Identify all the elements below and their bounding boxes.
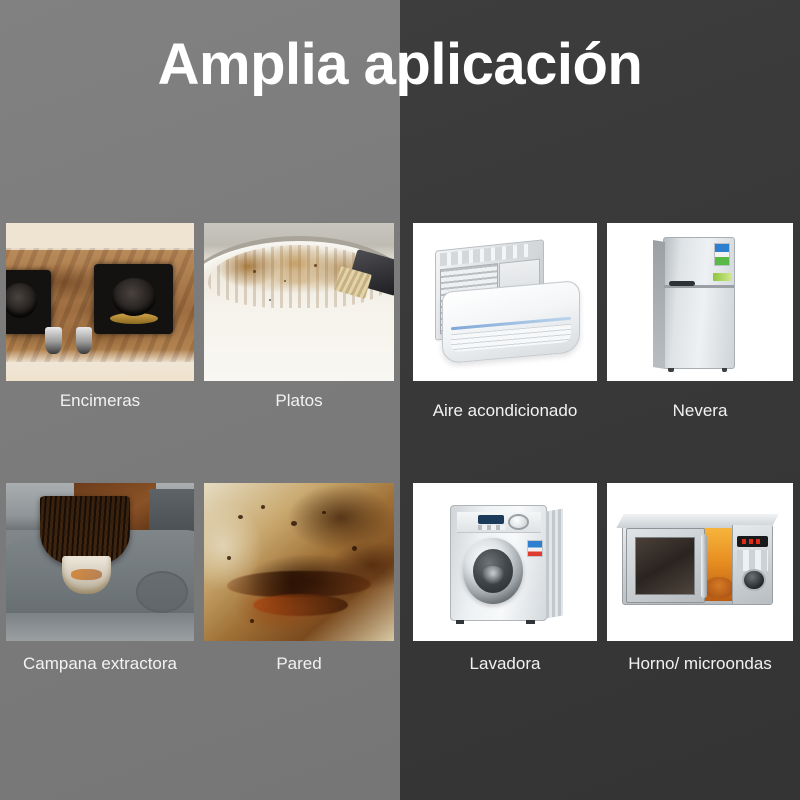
washer-door-glass [473, 549, 513, 594]
photo-dirty-stove [6, 223, 194, 381]
oven-door-glass [635, 537, 696, 596]
oil-cup-residue [71, 569, 102, 580]
photo-microwave-oven [607, 483, 793, 641]
energy-label-sticker [714, 243, 730, 266]
plate-speck [269, 299, 271, 301]
tile-campana-extractora [6, 483, 194, 641]
wall-splatter [261, 505, 265, 509]
tile-horno-microondas [607, 483, 793, 641]
oven-keypad [737, 550, 768, 571]
washer-foot-left [456, 620, 465, 625]
washer-body [450, 505, 548, 621]
refrigerator-side-panel [653, 240, 665, 369]
washer-display [478, 515, 503, 524]
oven-control-panel [732, 525, 772, 604]
photo-air-conditioner [413, 223, 597, 381]
oven-open-door [626, 528, 705, 603]
photo-range-hood [6, 483, 194, 641]
caption-nevera: Nevera [607, 400, 793, 422]
green-sticker [713, 273, 731, 281]
hood-lower-edge [6, 613, 194, 641]
washer-foot-right [526, 620, 535, 625]
oven-led-display [737, 536, 768, 547]
wall-splatter [227, 556, 231, 560]
oven-body [622, 524, 773, 605]
refrigerator-body [663, 237, 736, 369]
refrigerator-foot-right [722, 368, 728, 372]
wall-grease-streak [227, 571, 371, 596]
wall-grease-streak-lower [253, 594, 348, 616]
oven-control-knob [742, 569, 766, 592]
washer-drum [481, 566, 505, 584]
wall-splatter [352, 546, 357, 551]
photo-stained-wall [204, 483, 394, 641]
washer-buttons [478, 525, 505, 530]
caption-lavadora: Lavadora [413, 653, 597, 675]
burner-brass-ring [110, 313, 157, 324]
washer-control-panel [457, 512, 541, 533]
wall-splatter [322, 511, 326, 514]
caption-platos: Platos [204, 390, 394, 412]
tile-lavadora [413, 483, 597, 641]
caption-encimeras: Encimeras [6, 390, 194, 412]
caption-pared: Pared [204, 653, 394, 675]
tile-aire-acondicionado [413, 223, 597, 381]
caption-campana-extractora: Campana extractora [0, 653, 200, 675]
washer-door [463, 538, 522, 604]
tile-pared [204, 483, 394, 641]
photo-washing-machine [413, 483, 597, 641]
stove-knob-2 [76, 327, 93, 354]
tile-platos [204, 223, 394, 381]
hood-oil-cup [62, 556, 111, 594]
caption-aire-acondicionado: Aire acondicionado [405, 400, 605, 422]
plate-speck [284, 280, 286, 282]
refrigerator-foot-left [668, 368, 674, 372]
caption-horno-microondas: Horno/ microondas [600, 653, 800, 675]
hood-grease-drip [40, 496, 130, 566]
tile-nevera [607, 223, 793, 381]
ac-indoor-unit [442, 280, 580, 364]
washer-energy-sticker [527, 540, 542, 557]
photo-dirty-plate [204, 223, 394, 381]
stove-burner-left [6, 270, 51, 333]
refrigerator-handle [669, 281, 694, 286]
wall-splatter [250, 619, 254, 623]
washer-side-depth [546, 508, 563, 618]
wall-splatter [291, 521, 297, 526]
oven-door-handle [701, 534, 707, 598]
stove-knob-1 [45, 327, 62, 354]
washer-program-dial [508, 514, 529, 530]
wall-splatter [238, 515, 243, 519]
stove-burner-right [94, 264, 173, 334]
photo-refrigerator [607, 223, 793, 381]
tile-encimeras [6, 223, 194, 381]
oven-food-tray [705, 577, 733, 598]
hood-vent-opening [136, 571, 189, 613]
application-poster: Amplia aplicación Encimeras Platos [0, 0, 800, 800]
page-title: Amplia aplicación [0, 28, 800, 102]
